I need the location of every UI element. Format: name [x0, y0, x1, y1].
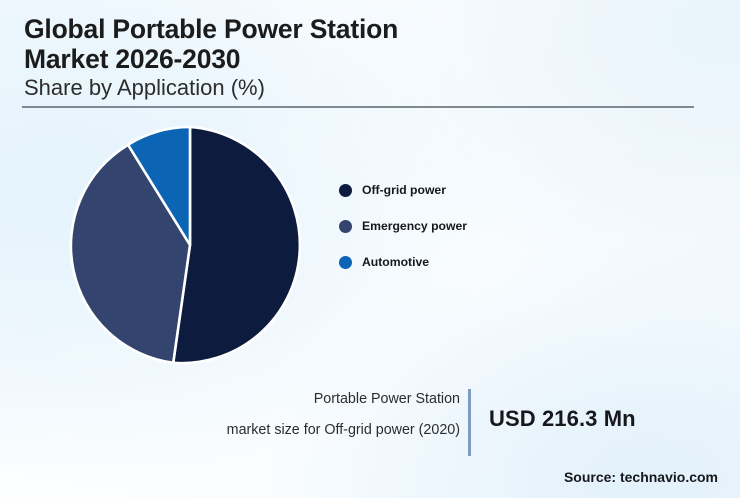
stat-divider: [468, 389, 471, 456]
page-subtitle: Share by Application (%): [24, 75, 684, 101]
legend-item-emergency-power[interactable]: Emergency power: [339, 208, 539, 244]
source-label: Source: technavio.com: [564, 469, 718, 485]
stat-caption: Portable Power Station market size for O…: [140, 392, 460, 438]
stat-value: USD 216.3 Mn: [489, 406, 636, 432]
legend-item-label: Automotive: [362, 255, 429, 269]
legend: Off-grid power Emergency power Automotiv…: [339, 172, 539, 280]
legend-swatch-icon: [339, 256, 352, 269]
legend-swatch-icon: [339, 220, 352, 233]
title-block: Global Portable Power Station Market 202…: [24, 14, 684, 101]
legend-item-label: Emergency power: [362, 219, 467, 233]
stat-caption-line-2: market size for Off-grid power (2020): [140, 423, 460, 437]
legend-item-off-grid-power[interactable]: Off-grid power: [339, 172, 539, 208]
pie-slice-off-grid-power[interactable]: [173, 127, 300, 363]
stat-caption-line-1: Portable Power Station: [140, 392, 460, 406]
pie-chart-svg: [72, 127, 308, 363]
legend-swatch-icon: [339, 184, 352, 197]
legend-item-automotive[interactable]: Automotive: [339, 244, 539, 280]
pie-chart: [72, 127, 308, 363]
title-divider: [22, 106, 694, 108]
infographic-canvas: Global Portable Power Station Market 202…: [0, 0, 740, 498]
legend-item-label: Off-grid power: [362, 183, 446, 197]
page-title: Global Portable Power Station Market 202…: [24, 14, 684, 74]
